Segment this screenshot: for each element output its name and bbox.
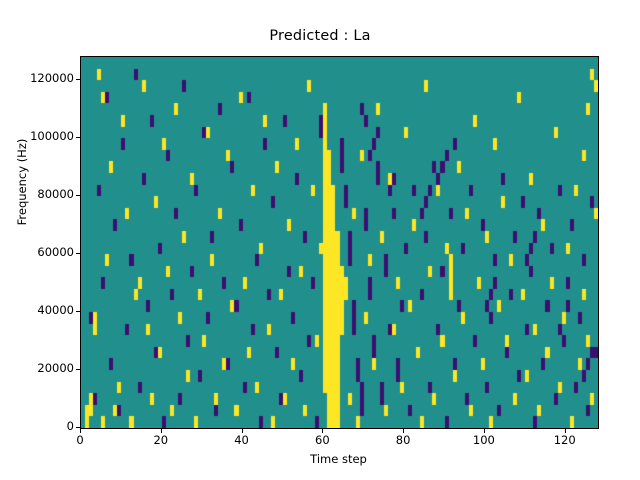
y-tick-mark [76, 311, 80, 312]
y-tick-label: 100000 [2, 129, 74, 143]
x-tick-label: 120 [535, 433, 595, 447]
x-tick-label: 40 [212, 433, 272, 447]
matplotlib-figure: Predicted : La Frequency (Hz) Time step … [0, 0, 640, 480]
y-tick-label: 40000 [2, 303, 74, 317]
x-tick-mark [322, 429, 323, 433]
y-axis-ticks: 020000400006000080000100000120000 [0, 0, 74, 480]
y-tick-label: 60000 [2, 245, 74, 259]
y-tick-label: 20000 [2, 361, 74, 375]
y-tick-mark [76, 79, 80, 80]
y-tick-mark [76, 427, 80, 428]
x-tick-mark [403, 429, 404, 433]
heatmap-axes [80, 56, 599, 429]
x-tick-label: 60 [292, 433, 352, 447]
x-tick-mark [161, 429, 162, 433]
y-tick-mark [76, 369, 80, 370]
y-tick-label: 0 [2, 419, 74, 433]
spectrogram-canvas [81, 57, 598, 428]
y-tick-label: 120000 [2, 71, 74, 85]
y-tick-mark [76, 195, 80, 196]
y-tick-mark [76, 253, 80, 254]
y-tick-label: 80000 [2, 187, 74, 201]
x-tick-label: 100 [454, 433, 514, 447]
x-tick-mark [565, 429, 566, 433]
x-tick-label: 80 [373, 433, 433, 447]
x-tick-mark [484, 429, 485, 433]
x-tick-mark [242, 429, 243, 433]
x-tick-mark [80, 429, 81, 433]
chart-title: Predicted : La [0, 28, 640, 44]
y-tick-mark [76, 137, 80, 138]
x-axis-label: Time step [80, 452, 597, 466]
x-tick-label: 20 [131, 433, 191, 447]
